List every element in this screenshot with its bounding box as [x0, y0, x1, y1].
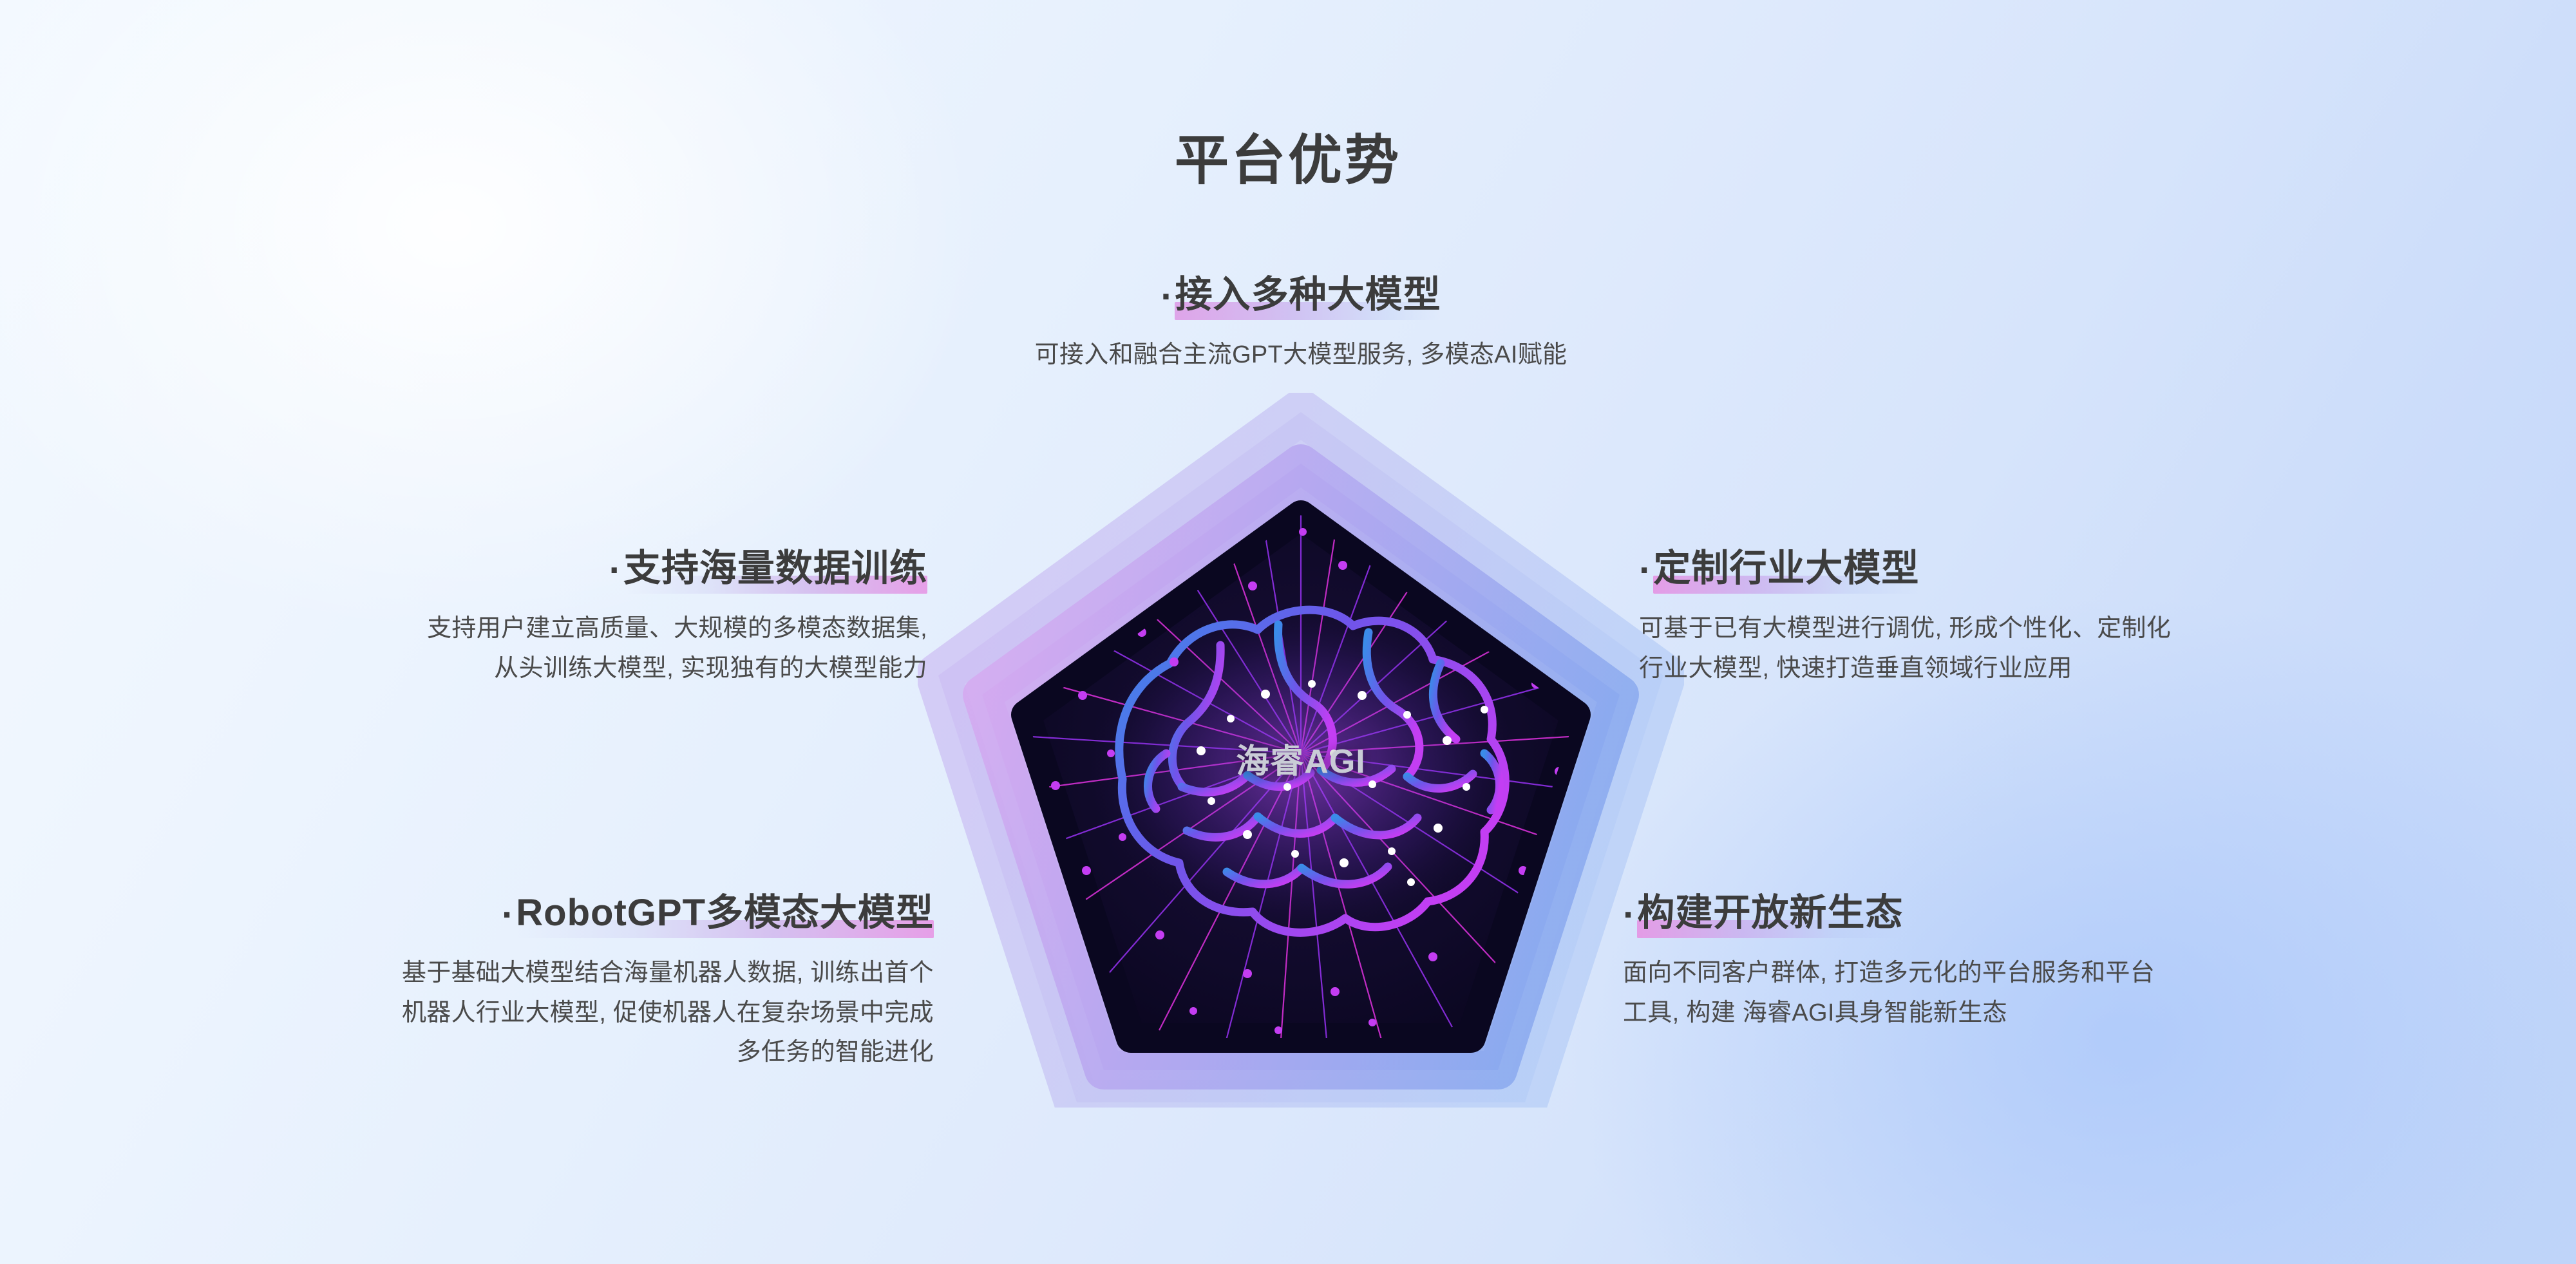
feature-heading-text: 支持海量数据训练	[623, 547, 927, 589]
feature-heading-text: 构建开放新生态	[1637, 892, 1903, 934]
bullet-icon: ·	[609, 549, 622, 592]
feature-heading: ·RobotGPT多模态大模型	[502, 892, 934, 939]
feature-heading: ·支持海量数据训练	[609, 547, 927, 595]
pentagon-brain-illustration	[918, 393, 1684, 1108]
feature-description: 可接入和融合主流GPT大模型服务, 多模态AI赋能	[921, 335, 1681, 375]
platform-advantages-section: 平台优势	[0, 0, 2576, 1264]
feature-custom-industry-model: ·定制行业大模型 可基于已有大模型进行调优, 形成个性化、定制化 行业大模型, …	[1639, 547, 2412, 688]
feature-open-ecosystem: ·构建开放新生态 面向不同客户群体, 打造多元化的平台服务和平台 工具, 构建 …	[1623, 892, 2421, 1033]
feature-description: 基于基础大模型结合海量机器人数据, 训练出首个 机器人行业大模型, 促使机器人在…	[180, 954, 934, 1073]
feature-description-line: 基于基础大模型结合海量机器人数据, 训练出首个	[180, 954, 934, 994]
feature-heading-text: 接入多种大模型	[1175, 274, 1441, 316]
feature-description-line: 可基于已有大模型进行调优, 形成个性化、定制化	[1639, 609, 2412, 649]
feature-heading: ·定制行业大模型	[1639, 547, 1919, 595]
feature-description-line: 可接入和融合主流GPT大模型服务, 多模态AI赋能	[921, 335, 1681, 375]
bullet-icon: ·	[502, 894, 515, 937]
bullet-icon: ·	[1623, 894, 1636, 937]
feature-description-line: 工具, 构建 海睿AGI具身智能新生态	[1623, 994, 2421, 1033]
bullet-icon: ·	[1160, 276, 1173, 319]
feature-heading: ·接入多种大模型	[1160, 274, 1441, 321]
feature-description-line: 面向不同客户群体, 打造多元化的平台服务和平台	[1623, 954, 2421, 994]
feature-description-line: 行业大模型, 快速打造垂直领域行业应用	[1639, 649, 2412, 689]
feature-description-line: 机器人行业大模型, 促使机器人在复杂场景中完成	[180, 994, 934, 1033]
feature-description: 支持用户建立高质量、大规模的多模态数据集, 从头训练大模型, 实现独有的大模型能…	[193, 609, 927, 688]
feature-access-multiple-models: ·接入多种大模型 可接入和融合主流GPT大模型服务, 多模态AI赋能	[921, 274, 1681, 375]
feature-heading-text: RobotGPT多模态大模型	[516, 892, 934, 934]
feature-description-line: 支持用户建立高质量、大规模的多模态数据集,	[193, 609, 927, 649]
feature-robotgpt-multimodal-model: ·RobotGPT多模态大模型 基于基础大模型结合海量机器人数据, 训练出首个 …	[180, 892, 934, 1073]
feature-description: 面向不同客户群体, 打造多元化的平台服务和平台 工具, 构建 海睿AGI具身智能…	[1623, 954, 2421, 1033]
bullet-icon: ·	[1639, 549, 1652, 592]
feature-heading: ·构建开放新生态	[1623, 892, 1903, 939]
feature-massive-data-training: ·支持海量数据训练 支持用户建立高质量、大规模的多模态数据集, 从头训练大模型,…	[193, 547, 927, 688]
feature-description-line: 多任务的智能进化	[180, 1033, 934, 1073]
feature-description-line: 从头训练大模型, 实现独有的大模型能力	[193, 649, 927, 689]
feature-description: 可基于已有大模型进行调优, 形成个性化、定制化 行业大模型, 快速打造垂直领域行…	[1639, 609, 2412, 688]
page-title: 平台优势	[0, 117, 2576, 195]
feature-heading-text: 定制行业大模型	[1653, 547, 1919, 589]
